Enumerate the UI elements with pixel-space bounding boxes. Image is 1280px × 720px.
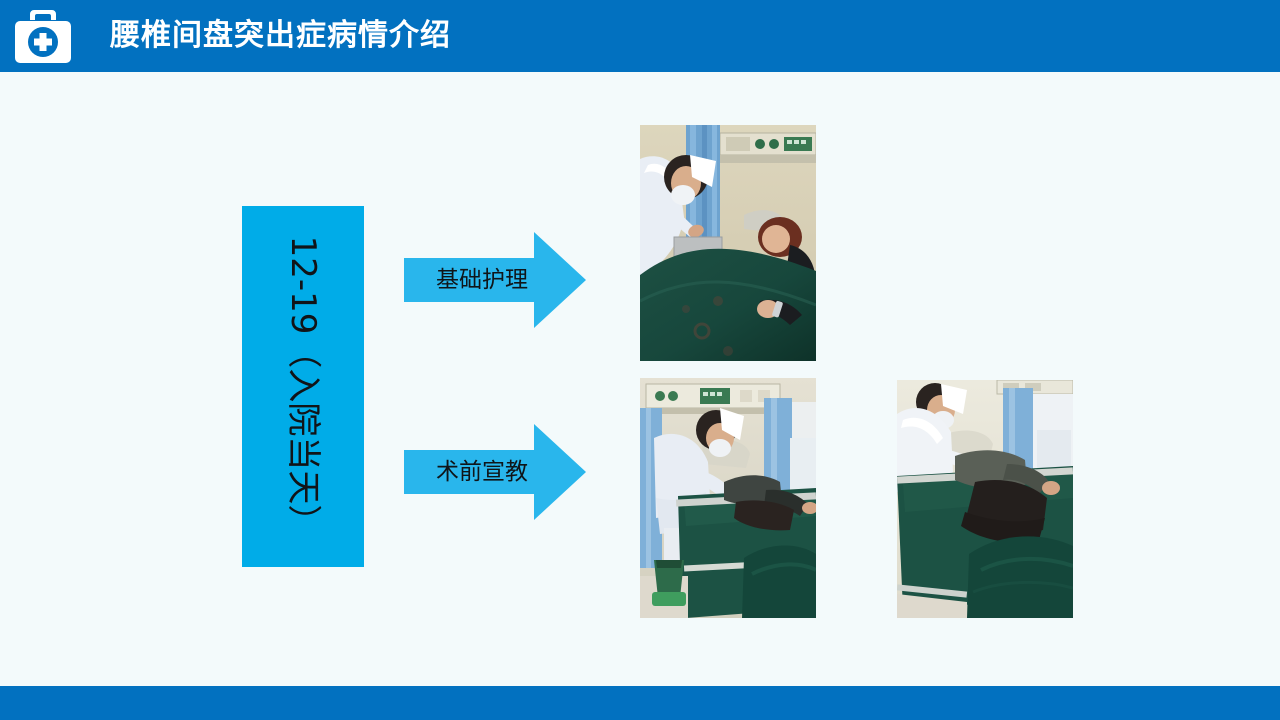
photo-preop-education-2 [897, 380, 1073, 618]
flow-arrow-label-preop-education: 术前宣教 [426, 424, 538, 520]
medical-kit-icon [13, 7, 73, 65]
phase-label-box: 12-19（入院当天） [242, 206, 364, 567]
photo-preop-education-1 [640, 378, 816, 618]
slide-body: 12-19（入院当天） 基础护理 术前宣教 [0, 72, 1280, 686]
page-title: 腰椎间盘突出症病情介绍 [110, 16, 451, 56]
header-bar: 腰椎间盘突出症病情介绍 [0, 0, 1280, 72]
flow-arrow-preop-education: 术前宣教 [404, 424, 586, 520]
flow-arrow-basic-care: 基础护理 [404, 232, 586, 328]
phase-label-text: 12-19（入院当天） [286, 235, 320, 538]
footer-bar [0, 686, 1280, 720]
photo-basic-care [640, 125, 816, 361]
flow-arrow-label-basic-care: 基础护理 [426, 232, 538, 328]
